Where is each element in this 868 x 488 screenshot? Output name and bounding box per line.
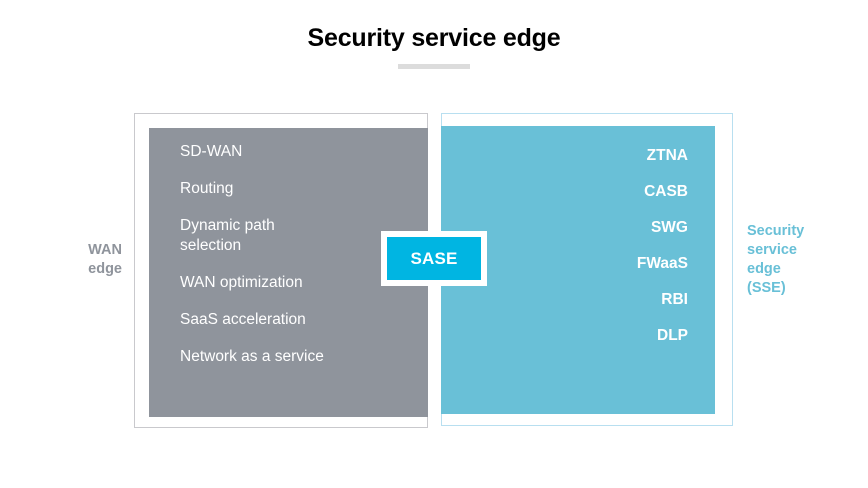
- list-item: RBI: [455, 290, 688, 310]
- list-item: SD-WAN: [180, 142, 410, 162]
- title-underline-rule: [398, 64, 470, 69]
- list-item: Routing: [180, 179, 410, 199]
- wan-edge-capability-list: SD-WAN Routing Dynamic path selection WA…: [180, 142, 410, 384]
- list-item: WAN optimization: [180, 273, 410, 293]
- wan-edge-group-label: WAN edge: [48, 241, 122, 279]
- list-item: FWaaS: [455, 254, 688, 274]
- list-item: Dynamic path selection: [180, 216, 410, 256]
- sase-badge-fill: SASE: [387, 237, 481, 280]
- sse-capability-list: ZTNA CASB SWG FWaaS RBI DLP: [455, 146, 688, 362]
- page-title: Security service edge: [0, 24, 868, 53]
- list-item: SaaS acceleration: [180, 310, 410, 330]
- sse-group-label: Security service edge (SSE): [747, 222, 857, 298]
- list-item: CASB: [455, 182, 688, 202]
- list-item: ZTNA: [455, 146, 688, 166]
- list-item: DLP: [455, 326, 688, 346]
- sase-badge: SASE: [381, 231, 487, 286]
- list-item: Network as a service: [180, 347, 410, 367]
- sase-badge-label: SASE: [410, 249, 457, 269]
- list-item: SWG: [455, 218, 688, 238]
